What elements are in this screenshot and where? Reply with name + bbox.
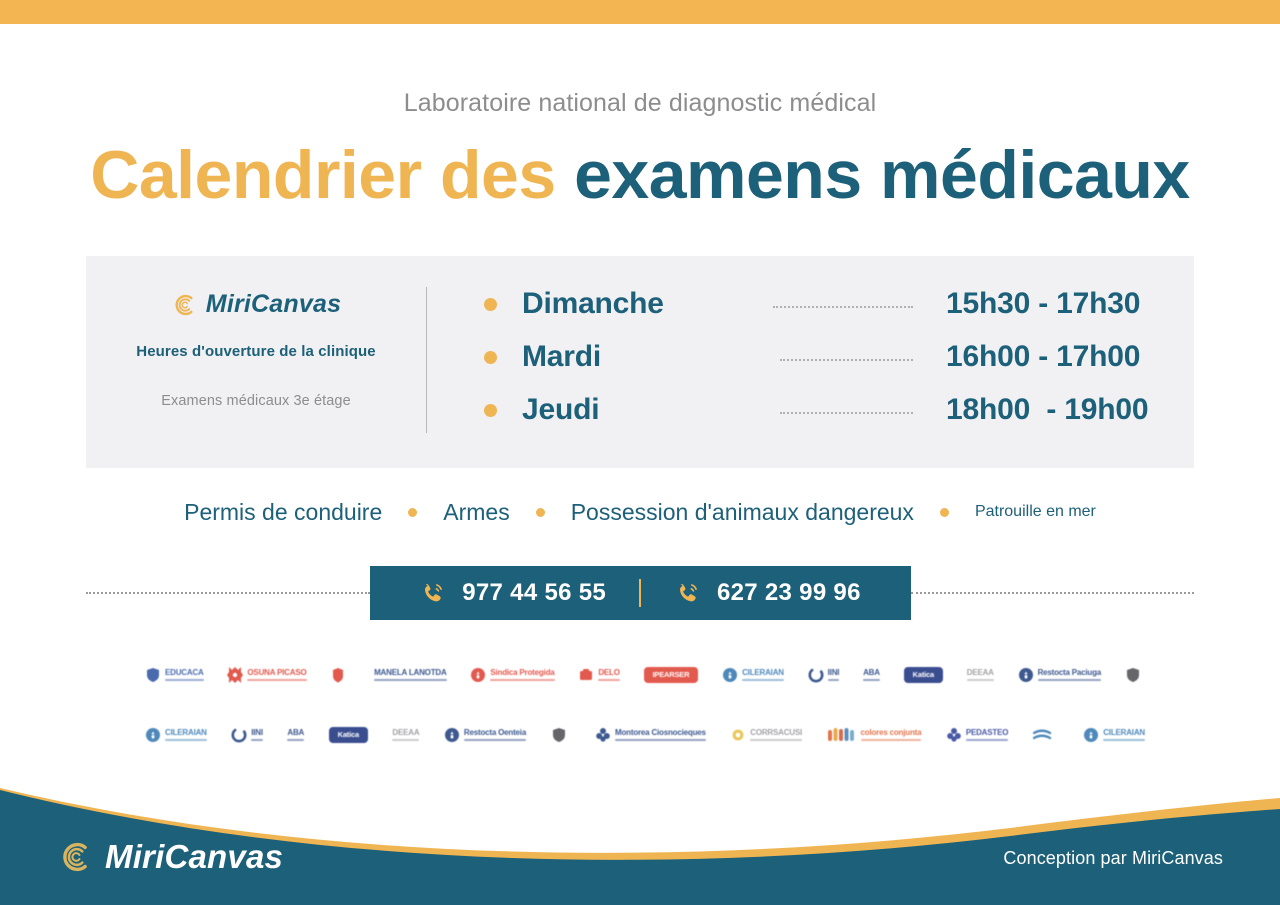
footer-brand: MiriCanvas	[57, 838, 283, 876]
partner-logo-text: IINI	[828, 669, 840, 677]
schedule-day: Mardi	[522, 340, 601, 374]
card-heading: Heures d'ouverture de la clinique	[136, 343, 375, 360]
miricanvas-spiral-icon	[57, 839, 93, 875]
partner-logo-underline	[615, 739, 706, 741]
partner-logo: ABA	[863, 669, 880, 681]
partner-logo-underline	[967, 679, 994, 681]
logo-row: CILERAIANIINIABAKaticaDEEAARestocta Oent…	[145, 705, 1145, 765]
partner-logo-text: CILERAIAN	[742, 669, 784, 677]
partner-logo: Montorea Ciosnocieques	[595, 727, 706, 743]
services-row: Permis de conduireArmesPossession d'anim…	[86, 492, 1194, 532]
partner-logo	[551, 727, 571, 743]
partner-logo-text: Restocta Oenteia	[464, 729, 526, 737]
partner-logo-text: PEDASTEO	[966, 729, 1008, 737]
partner-logo: PEDASTEO	[946, 727, 1008, 743]
partner-logo-text: ABA	[287, 729, 304, 737]
service-item: Possession d'animaux dangereux	[571, 499, 914, 526]
phone-ringing-icon	[674, 580, 701, 607]
partner-logo-text: Restocta Paciuga	[1038, 669, 1102, 677]
partner-logo: Restocta Paciuga	[1018, 667, 1102, 683]
partner-logo: CILERAIAN	[1083, 727, 1145, 743]
partner-logo: CILERAIAN	[722, 667, 784, 683]
card-brand-name: MiriCanvas	[206, 290, 341, 319]
schedule-day: Dimanche	[522, 287, 664, 321]
partner-logo-underline	[247, 679, 306, 681]
partner-logo-text: IPEARSER	[653, 671, 690, 679]
partner-logo-text: DELO	[598, 669, 619, 677]
partner-logo-text: CILERAIAN	[1103, 729, 1145, 737]
partner-logo	[330, 667, 350, 683]
partner-logo-text: OSUNA PICASO	[247, 669, 306, 677]
schedule-list: Dimanche15h30 - 17h30Mardi16h00 - 17h00J…	[427, 256, 1194, 468]
card-brand: MiriCanvas	[171, 290, 341, 319]
schedule-bullet-icon	[484, 404, 497, 417]
partner-logo-underline	[251, 739, 263, 741]
service-separator-dot	[536, 508, 545, 517]
poster-subtitle: Laboratoire national de diagnostic médic…	[0, 88, 1280, 118]
schedule-card-left: MiriCanvas Heures d'ouverture de la clin…	[86, 256, 426, 468]
partner-logo-underline	[490, 679, 554, 681]
partner-logo-text: Montorea Ciosnocieques	[615, 729, 706, 737]
dotted-leader	[780, 357, 913, 361]
footer-wave-shape	[0, 762, 1280, 905]
phone-rule-right	[911, 592, 1195, 594]
partner-logo-wall: EDUCACAOSUNA PICASOMANELA LANOTDASindica…	[145, 645, 1145, 765]
partner-logo: DEEAA	[967, 669, 994, 681]
partner-logo-underline	[742, 679, 784, 681]
service-item: Patrouille en mer	[975, 503, 1096, 521]
partner-logo-underline	[966, 739, 1008, 741]
partner-logo: IPEARSER	[644, 667, 699, 683]
card-note: Examens médicaux 3e étage	[161, 393, 351, 409]
partner-logo-text: DEEAA	[967, 669, 994, 677]
title-teal-part: examens médicaux	[574, 137, 1190, 213]
partner-logo: MANELA LANOTDA	[374, 669, 446, 681]
schedule-bullet-icon	[484, 298, 497, 311]
partner-logo: ABA	[287, 729, 304, 741]
logo-row: EDUCACAOSUNA PICASOMANELA LANOTDASindica…	[145, 645, 1145, 705]
partner-logo-text: ABA	[863, 669, 880, 677]
schedule-time: 16h00 - 17h00	[946, 340, 1194, 374]
partner-logo: CILERAIAN	[145, 727, 207, 743]
phone-ringing-icon	[419, 580, 446, 607]
top-accent-bar	[0, 0, 1280, 24]
partner-logo-underline	[863, 679, 880, 681]
partner-logo-underline	[287, 739, 304, 741]
schedule-time: 15h30 - 17h30	[946, 287, 1194, 321]
partner-logo: DEEAA	[392, 729, 419, 741]
schedule-row: Mardi16h00 - 17h00	[484, 339, 1194, 375]
poster-header: Laboratoire national de diagnostic médic…	[0, 88, 1280, 216]
schedule-day: Jeudi	[522, 393, 599, 427]
partner-logo-underline	[1038, 679, 1102, 681]
partner-logo-text: CORRSACUSI	[750, 729, 802, 737]
partner-logo: IINI	[808, 667, 840, 683]
partner-logo-text: Katica	[913, 671, 934, 679]
partner-logo: CORRSACUSI	[730, 727, 802, 743]
partner-logo-underline	[861, 739, 922, 741]
partner-logo-underline	[464, 739, 526, 741]
partner-logo: EDUCACA	[145, 667, 204, 683]
partner-logo: Restocta Oenteia	[444, 727, 526, 743]
phone-rule-left	[86, 592, 370, 594]
footer-wave: MiriCanvas Conception par MiriCanvas	[0, 762, 1280, 905]
poster-title: Calendrier des examens médicaux	[0, 134, 1280, 216]
partner-logo-text: Sindica Protegida	[490, 669, 554, 677]
partner-logo-underline	[165, 739, 207, 741]
partner-logo: DELO	[578, 667, 619, 683]
partner-logo-underline	[165, 679, 204, 681]
partner-logo-underline	[828, 679, 840, 681]
phone-item-2[interactable]: 627 23 99 96	[641, 579, 894, 607]
footer-brand-name: MiriCanvas	[105, 838, 283, 876]
partner-logo: Katica	[904, 667, 943, 683]
schedule-time: 18h00 - 19h00	[946, 393, 1194, 427]
service-separator-dot	[408, 508, 417, 517]
partner-logo-underline	[374, 679, 446, 681]
phone-number-1: 977 44 56 55	[462, 579, 606, 607]
partner-logo: colores conjunta	[827, 727, 922, 743]
partner-logo: Sindica Protegida	[470, 667, 554, 683]
partner-logo	[1125, 667, 1145, 683]
miricanvas-spiral-icon	[171, 292, 197, 318]
partner-logo-text: colores conjunta	[861, 729, 922, 737]
phone-band: 977 44 56 55 627 23 99 96	[370, 566, 911, 620]
partner-logo: Katica	[329, 727, 368, 743]
service-item: Permis de conduire	[184, 499, 382, 526]
dotted-leader	[773, 304, 913, 308]
partner-logo-text: IINI	[251, 729, 263, 737]
title-gold-part: Calendrier des	[90, 137, 555, 213]
partner-logo: IINI	[231, 727, 263, 743]
partner-logo-underline	[750, 739, 802, 741]
partner-logo-text: DEEAA	[392, 729, 419, 737]
poster-canvas: Laboratoire national de diagnostic médic…	[0, 0, 1280, 905]
partner-logo-underline	[598, 679, 619, 681]
partner-logo-underline	[392, 739, 419, 741]
partner-logo-underline	[1103, 739, 1145, 741]
partner-logo-text: CILERAIAN	[165, 729, 207, 737]
partner-logo-text: EDUCACA	[165, 669, 204, 677]
footer-credit: Conception par MiriCanvas	[1003, 848, 1223, 869]
schedule-bullet-icon	[484, 351, 497, 364]
schedule-row: Jeudi18h00 - 19h00	[484, 392, 1194, 428]
schedule-card: MiriCanvas Heures d'ouverture de la clin…	[86, 256, 1194, 468]
phone-item-1[interactable]: 977 44 56 55	[386, 579, 639, 607]
phone-zone: 977 44 56 55 627 23 99 96	[86, 566, 1194, 620]
schedule-row: Dimanche15h30 - 17h30	[484, 286, 1194, 322]
partner-logo	[1033, 727, 1059, 743]
partner-logo-text: Katica	[338, 731, 359, 739]
partner-logo: OSUNA PICASO	[227, 667, 306, 683]
dotted-leader	[780, 410, 913, 414]
partner-logo-text: MANELA LANOTDA	[374, 669, 446, 677]
service-separator-dot	[940, 508, 949, 517]
phone-number-2: 627 23 99 96	[717, 579, 861, 607]
service-item: Armes	[443, 499, 509, 526]
